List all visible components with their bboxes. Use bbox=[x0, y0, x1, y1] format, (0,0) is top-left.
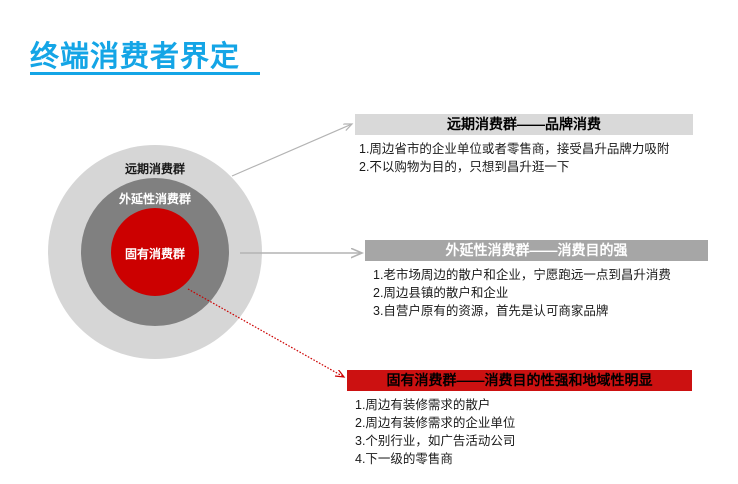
list-item: 3.自营户原有的资源，首先是认可商家品牌 bbox=[373, 302, 708, 320]
list-item: 1.周边有装修需求的散户 bbox=[355, 396, 692, 414]
block-body-core: 1.周边有装修需求的散户 2.周边有装修需求的企业单位 3.个别行业，如广告活动… bbox=[347, 396, 692, 468]
list-item: 2.周边县镇的散户和企业 bbox=[373, 284, 708, 302]
ring-inner-label: 固有消费群 bbox=[48, 245, 262, 262]
consumer-group-block-core: 固有消费群——消费目的性强和地域性明显 1.周边有装修需求的散户 2.周边有装修… bbox=[347, 370, 692, 468]
slide-canvas: 终端消费者界定 远期消费群 外延性消费群 固有消费群 远期消费群——品牌消费 1… bbox=[0, 0, 738, 484]
list-item: 1.周边省市的企业单位或者零售商，接受昌升品牌力吸附 bbox=[359, 140, 693, 158]
list-item: 2.不以购物为目的，只想到昌升逛一下 bbox=[359, 158, 693, 176]
ring-outer-label: 远期消费群 bbox=[48, 160, 262, 177]
block-header-core: 固有消费群——消费目的性强和地域性明显 bbox=[347, 370, 692, 391]
block-header-remote: 远期消费群——品牌消费 bbox=[355, 114, 693, 135]
consumer-group-block-extended: 外延性消费群——消费目的强 1.老市场周边的散户和企业，宁愿跑远一点到昌升消费 … bbox=[365, 240, 708, 320]
consumer-group-block-remote: 远期消费群——品牌消费 1.周边省市的企业单位或者零售商，接受昌升品牌力吸附 2… bbox=[355, 114, 693, 176]
list-item: 3.个别行业，如广告活动公司 bbox=[355, 432, 692, 450]
list-item: 4.下一级的零售商 bbox=[355, 450, 692, 468]
page-title: 终端消费者界定 bbox=[30, 33, 240, 75]
block-header-extended: 外延性消费群——消费目的强 bbox=[365, 240, 708, 261]
block-body-extended: 1.老市场周边的散户和企业，宁愿跑远一点到昌升消费 2.周边县镇的散户和企业 3… bbox=[365, 266, 708, 320]
block-body-remote: 1.周边省市的企业单位或者零售商，接受昌升品牌力吸附 2.不以购物为目的，只想到… bbox=[355, 140, 693, 176]
list-item: 1.老市场周边的散户和企业，宁愿跑远一点到昌升消费 bbox=[373, 266, 708, 284]
title-underline bbox=[30, 72, 260, 75]
ring-middle-label: 外延性消费群 bbox=[48, 190, 262, 207]
list-item: 2.周边有装修需求的企业单位 bbox=[355, 414, 692, 432]
